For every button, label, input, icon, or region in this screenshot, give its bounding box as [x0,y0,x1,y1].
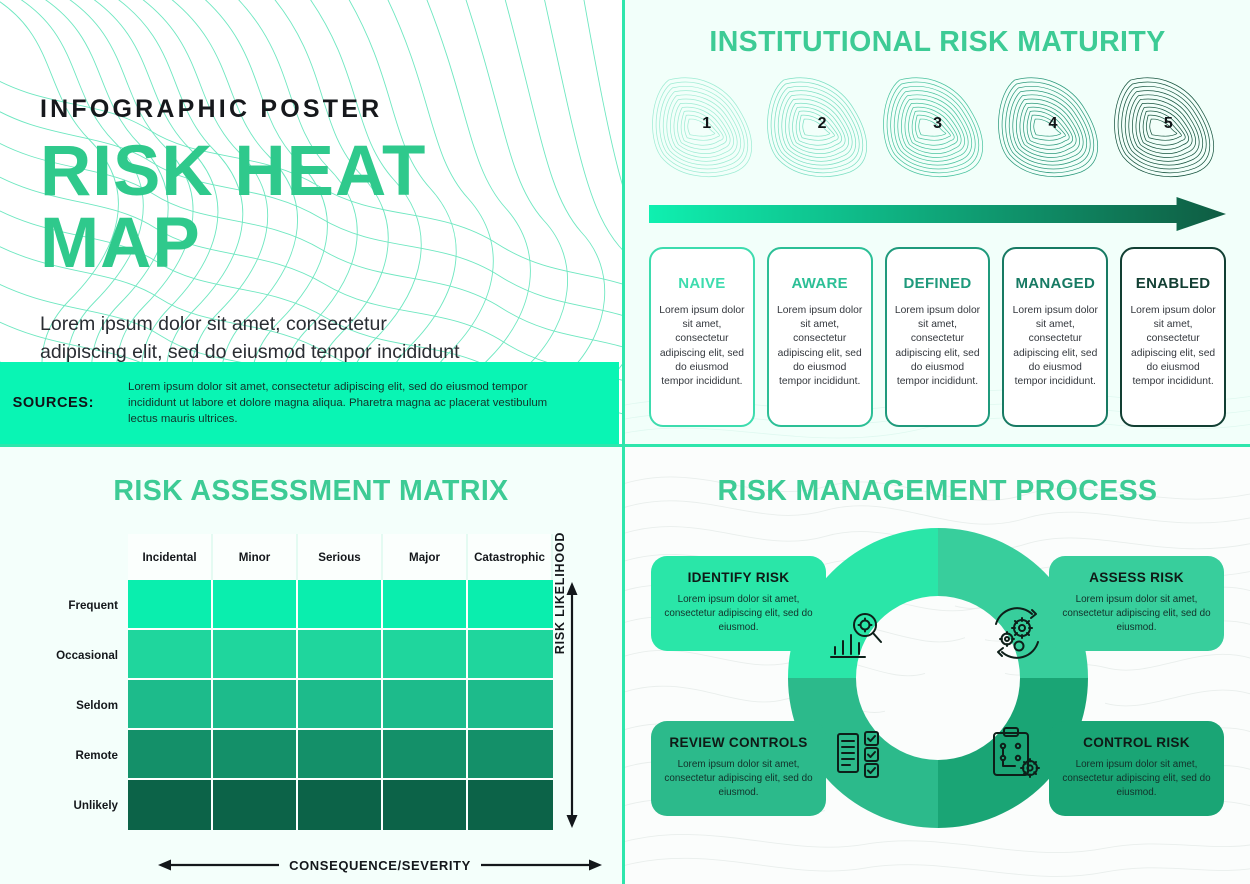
matrix-panel: RISK ASSESSMENT MATRIX Incidental Minor … [0,444,625,884]
matrix-x-axis: CONSEQUENCE/SEVERITY [156,850,604,880]
maturity-step-number: 3 [880,115,995,133]
maturity-step-number: 1 [649,115,764,133]
matrix-cell[interactable] [468,780,553,830]
maturity-cards: NAIVE Lorem ipsum dolor sit amet, consec… [649,247,1226,427]
maturity-blob-5: 5 [1111,71,1226,183]
matrix-cell[interactable] [213,730,298,780]
process-box-body: Lorem ipsum dolor sit amet, consectetur … [1059,593,1214,635]
matrix-row-header: Seldom [38,680,128,730]
process-box-title: CONTROL RISK [1059,735,1214,750]
page-title: RISK HEAT MAP [40,136,560,281]
process-box-body: Lorem ipsum dolor sit amet, consectetur … [661,593,816,635]
maturity-card-body: Lorem ipsum dolor sit amet, consectetur … [659,304,745,389]
maturity-progress-arrow [649,197,1226,231]
process-box-control-risk[interactable]: CONTROL RISK Lorem ipsum dolor sit amet,… [1049,721,1224,816]
matrix-cell[interactable] [468,730,553,780]
sources-label: SOURCES: [0,395,98,411]
process-box-title: REVIEW CONTROLS [661,735,816,750]
maturity-card-body: Lorem ipsum dolor sit amet, consectetur … [895,304,981,389]
matrix-cell[interactable] [298,730,383,780]
matrix-cell[interactable] [213,680,298,730]
magnifier-chart-icon [829,608,885,669]
gears-cycle-icon [988,604,1046,667]
clipboard-gear-icon [988,726,1044,787]
matrix-cell[interactable] [383,730,468,780]
matrix-row-header: Frequent [38,580,128,630]
maturity-blob-3: 3 [880,71,995,183]
matrix-cell[interactable] [128,630,213,680]
maturity-blob-row: 1 [649,71,1226,183]
risk-matrix: Incidental Minor Serious Major Catastrop… [0,534,622,880]
matrix-cell[interactable] [213,780,298,830]
maturity-step-number: 2 [764,115,879,133]
process-box-assess-risk[interactable]: ASSESS RISK Lorem ipsum dolor sit amet, … [1049,556,1224,651]
process-title: RISK MANAGEMENT PROCESS [625,475,1250,508]
maturity-blob-2: 2 [764,71,879,183]
hero-panel: INFOGRAPHIC POSTER RISK HEAT MAP Lorem i… [0,0,625,444]
process-box-identify-risk[interactable]: IDENTIFY RISK Lorem ipsum dolor sit amet… [651,556,826,651]
maturity-panel: INSTITUTIONAL RISK MATURITY [625,0,1250,444]
maturity-card-aware[interactable]: AWARE Lorem ipsum dolor sit amet, consec… [767,247,873,427]
matrix-row-header: Remote [38,730,128,780]
matrix-cell[interactable] [298,580,383,630]
maturity-card-title: AWARE [777,275,863,292]
process-box-review-controls[interactable]: REVIEW CONTROLS Lorem ipsum dolor sit am… [651,721,826,816]
matrix-row-header: Unlikely [38,780,128,830]
maturity-blob-1: 1 [649,71,764,183]
matrix-cell[interactable] [213,580,298,630]
process-box-body: Lorem ipsum dolor sit amet, consectetur … [1059,758,1214,800]
infographic-poster: INFOGRAPHIC POSTER RISK HEAT MAP Lorem i… [0,0,1250,884]
maturity-card-title: ENABLED [1130,275,1216,292]
matrix-cell[interactable] [298,780,383,830]
matrix-col-header: Serious [298,534,383,580]
matrix-y-axis-label: RISK LIKELIHOOD [435,468,625,718]
process-box-title: ASSESS RISK [1059,570,1214,585]
maturity-card-title: NAIVE [659,275,745,292]
matrix-cell[interactable] [213,630,298,680]
maturity-title: INSTITUTIONAL RISK MATURITY [649,26,1226,59]
maturity-card-body: Lorem ipsum dolor sit amet, consectetur … [1130,304,1216,389]
sources-bar: SOURCES: Lorem ipsum dolor sit amet, con… [0,362,619,444]
matrix-grid: Incidental Minor Serious Major Catastrop… [38,534,622,830]
maturity-card-enabled[interactable]: ENABLED Lorem ipsum dolor sit amet, cons… [1120,247,1226,427]
maturity-step-number: 5 [1111,115,1226,133]
process-box-body: Lorem ipsum dolor sit amet, consectetur … [661,758,816,800]
matrix-x-axis-text: CONSEQUENCE/SEVERITY [279,858,481,873]
maturity-card-defined[interactable]: DEFINED Lorem ipsum dolor sit amet, cons… [885,247,991,427]
process-box-title: IDENTIFY RISK [661,570,816,585]
maturity-card-title: DEFINED [895,275,981,292]
checklist-icon [835,726,889,785]
matrix-corner-spacer [38,534,128,580]
sources-text: Lorem ipsum dolor sit amet, consectetur … [98,379,568,428]
maturity-blob-4: 4 [995,71,1110,183]
matrix-cell[interactable] [128,680,213,730]
matrix-row-header: Occasional [38,630,128,680]
maturity-card-body: Lorem ipsum dolor sit amet, consectetur … [1012,304,1098,389]
process-panel: RISK MANAGEMENT PROCESS IDENTIFY RISK Lo… [625,444,1250,884]
matrix-col-header: Incidental [128,534,213,580]
matrix-cell[interactable] [128,780,213,830]
matrix-cell[interactable] [383,780,468,830]
matrix-y-axis: RISK LIKELIHOOD [553,580,589,830]
page-kicker: INFOGRAPHIC POSTER [40,95,560,124]
matrix-cell[interactable] [298,680,383,730]
matrix-cell[interactable] [128,580,213,630]
matrix-x-axis-label: CONSEQUENCE/SEVERITY [156,858,604,873]
maturity-step-number: 4 [995,115,1110,133]
maturity-card-title: MANAGED [1012,275,1098,292]
matrix-cell[interactable] [128,730,213,780]
maturity-card-managed[interactable]: MANAGED Lorem ipsum dolor sit amet, cons… [1002,247,1108,427]
process-cycle: IDENTIFY RISK Lorem ipsum dolor sit amet… [625,528,1250,858]
matrix-cell[interactable] [298,630,383,680]
maturity-card-naive[interactable]: NAIVE Lorem ipsum dolor sit amet, consec… [649,247,755,427]
maturity-card-body: Lorem ipsum dolor sit amet, consectetur … [777,304,863,389]
matrix-col-header: Minor [213,534,298,580]
